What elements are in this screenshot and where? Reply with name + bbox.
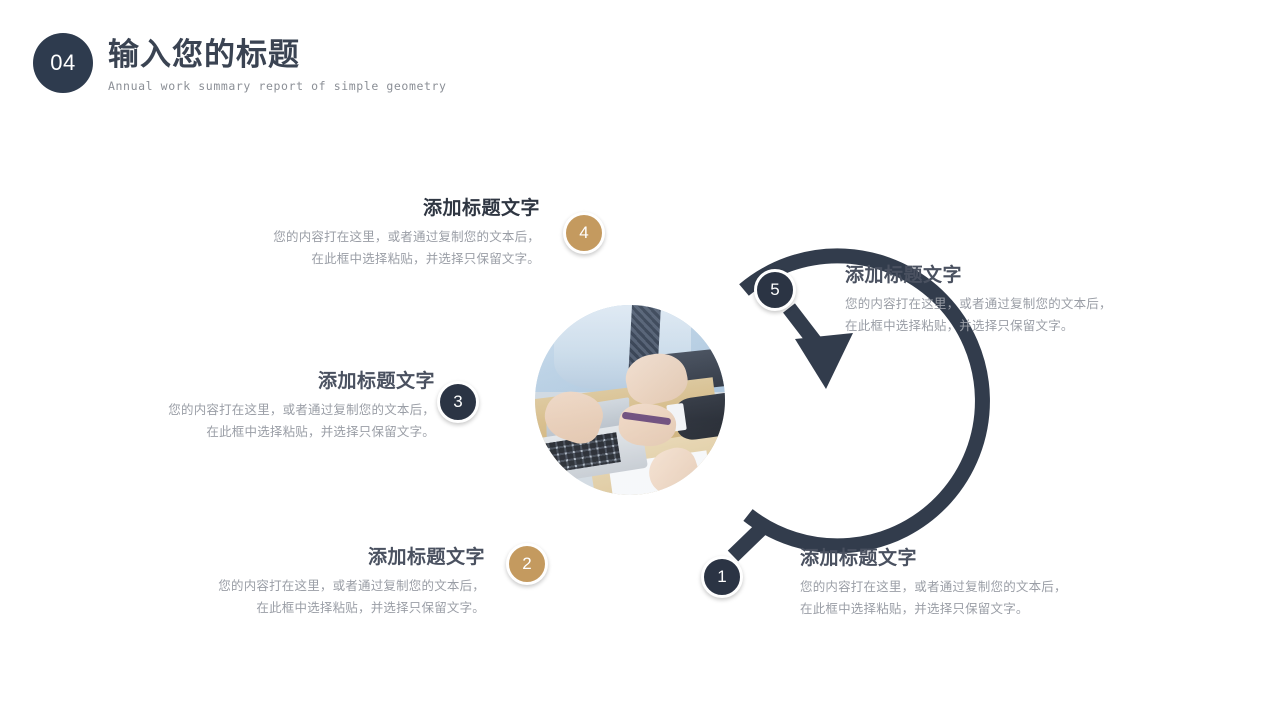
process-node-2[interactable]: 2 <box>506 543 548 585</box>
text-block-4-line-1: 您的内容打在这里，或者通过复制您的文本后， <box>145 227 540 249</box>
process-node-5[interactable]: 5 <box>754 269 796 311</box>
text-block-5-line-1: 您的内容打在这里，或者通过复制您的文本后， <box>845 294 1190 316</box>
text-block-3-title: 添加标题文字 <box>60 369 435 395</box>
center-photo <box>535 305 725 495</box>
text-block-2-line-1: 您的内容打在这里，或者通过复制您的文本后， <box>110 576 485 598</box>
arrow-head <box>795 333 853 389</box>
process-node-3[interactable]: 3 <box>437 381 479 423</box>
process-node-1-label: 1 <box>717 567 726 587</box>
text-block-2: 添加标题文字 您的内容打在这里，或者通过复制您的文本后， 在此框中选择粘贴，并选… <box>110 545 485 619</box>
text-block-4-line-2: 在此框中选择粘贴，并选择只保留文字。 <box>145 249 540 271</box>
process-node-2-label: 2 <box>522 554 531 574</box>
text-block-1-body: 您的内容打在这里，或者通过复制您的文本后， 在此框中选择粘贴，并选择只保留文字。 <box>800 577 1145 621</box>
text-block-3-line-2: 在此框中选择粘贴，并选择只保留文字。 <box>60 422 435 444</box>
photo-layer-tint <box>535 305 725 495</box>
text-block-5-line-2: 在此框中选择粘贴，并选择只保留文字。 <box>845 316 1190 338</box>
circular-process-diagram: 1 2 3 4 5 添加标题文字 您的内容打在这里，或者通过复制您的文本后， 在… <box>0 0 1280 720</box>
text-block-5-title: 添加标题文字 <box>845 263 1190 289</box>
text-block-1-line-1: 您的内容打在这里，或者通过复制您的文本后， <box>800 577 1145 599</box>
process-node-1[interactable]: 1 <box>701 556 743 598</box>
text-block-2-title: 添加标题文字 <box>110 545 485 571</box>
text-block-2-body: 您的内容打在这里，或者通过复制您的文本后， 在此框中选择粘贴，并选择只保留文字。 <box>110 576 485 620</box>
text-block-4-title: 添加标题文字 <box>145 196 540 222</box>
process-node-4[interactable]: 4 <box>563 212 605 254</box>
text-block-4-body: 您的内容打在这里，或者通过复制您的文本后， 在此框中选择粘贴，并选择只保留文字。 <box>145 227 540 271</box>
text-block-3-body: 您的内容打在这里，或者通过复制您的文本后， 在此框中选择粘贴，并选择只保留文字。 <box>60 400 435 444</box>
process-node-3-label: 3 <box>453 392 462 412</box>
text-block-5: 添加标题文字 您的内容打在这里，或者通过复制您的文本后， 在此框中选择粘贴，并选… <box>845 263 1190 337</box>
ring-tail-stub <box>733 527 763 556</box>
text-block-2-line-2: 在此框中选择粘贴，并选择只保留文字。 <box>110 598 485 620</box>
arrow-shaft <box>789 308 822 351</box>
process-node-4-label: 4 <box>579 223 588 243</box>
text-block-3: 添加标题文字 您的内容打在这里，或者通过复制您的文本后， 在此框中选择粘贴，并选… <box>60 369 435 443</box>
text-block-1: 添加标题文字 您的内容打在这里，或者通过复制您的文本后， 在此框中选择粘贴，并选… <box>800 546 1145 620</box>
text-block-5-body: 您的内容打在这里，或者通过复制您的文本后， 在此框中选择粘贴，并选择只保留文字。 <box>845 294 1190 338</box>
text-block-1-line-2: 在此框中选择粘贴，并选择只保留文字。 <box>800 599 1145 621</box>
text-block-4: 添加标题文字 您的内容打在这里，或者通过复制您的文本后， 在此框中选择粘贴，并选… <box>145 196 540 270</box>
text-block-1-title: 添加标题文字 <box>800 546 1145 572</box>
process-node-5-label: 5 <box>770 280 779 300</box>
text-block-3-line-1: 您的内容打在这里，或者通过复制您的文本后， <box>60 400 435 422</box>
